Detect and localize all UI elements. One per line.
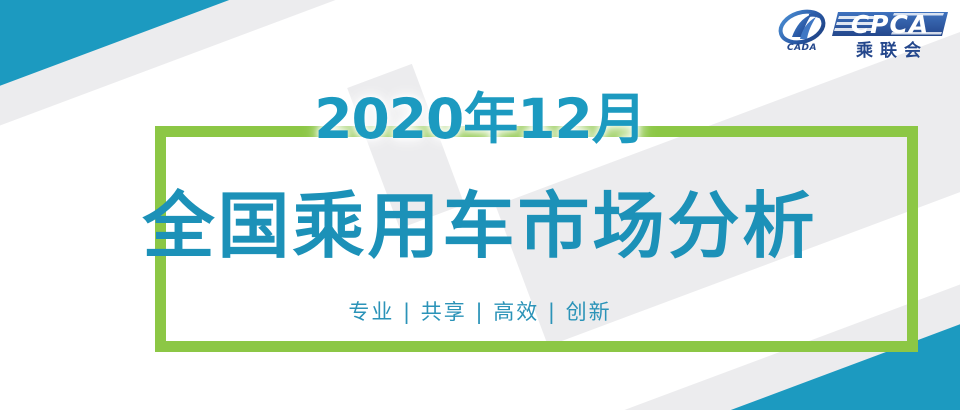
- cpca-acronym-text: CPCA: [851, 10, 929, 39]
- poster-main-title: 全国乘用车市场分析: [0, 190, 960, 262]
- cpca-chinese-name-text: 乘联会: [855, 40, 928, 60]
- poster-canvas: 2020年12月 全国乘用车市场分析 专业 | 共享 | 高效 | 创新: [0, 0, 960, 410]
- poster-month-title: 2020年12月: [0, 92, 960, 147]
- poster-content: 2020年12月 全国乘用车市场分析 专业 | 共享 | 高效 | 创新: [0, 0, 960, 410]
- cada-emblem-icon: CADA: [777, 6, 828, 53]
- cada-emblem-text: CADA: [787, 43, 817, 53]
- cpca-wordmark: CPCA 乘联会: [832, 10, 948, 60]
- cpca-logo: CADA CPCA 乘联会: [776, 6, 948, 60]
- cpca-logo-graphic: CADA CPCA 乘联会: [776, 6, 948, 60]
- poster-subtitle: 专业 | 共享 | 高效 | 创新: [0, 302, 960, 323]
